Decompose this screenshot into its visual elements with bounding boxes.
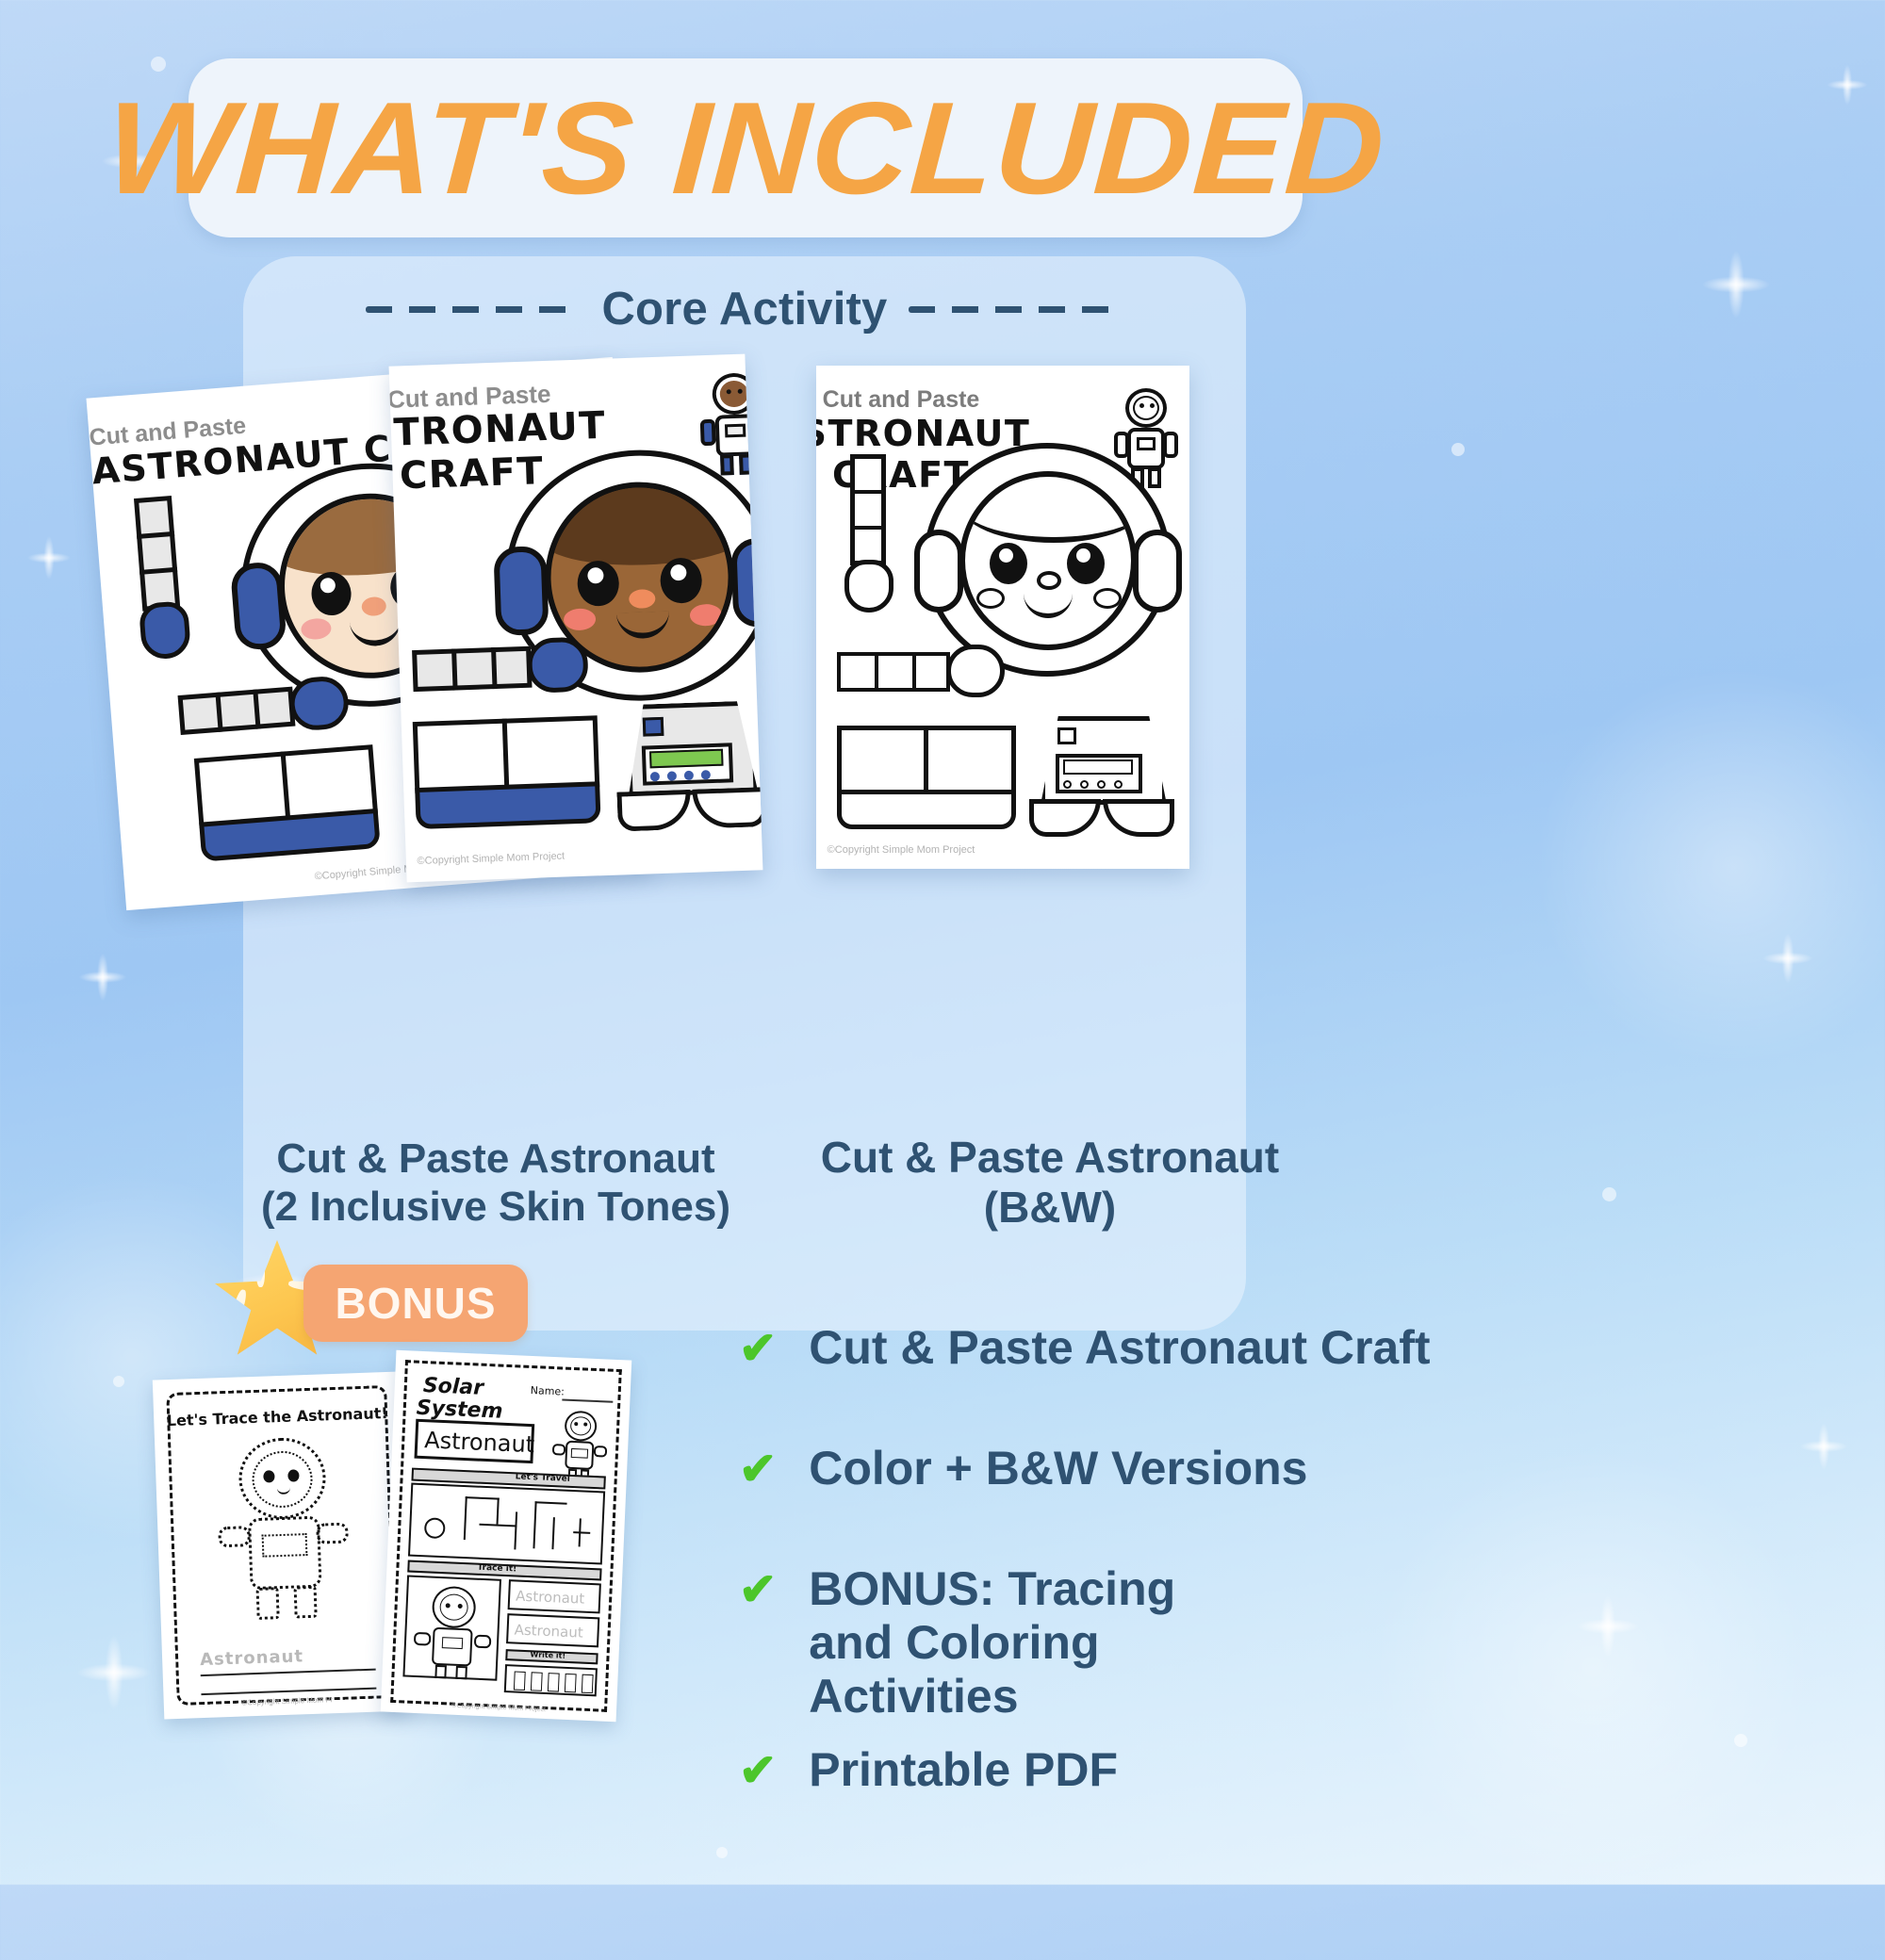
word-box-text: Astronaut <box>424 1427 535 1458</box>
craft-torso-piece <box>837 726 1016 833</box>
caption-line-2: (2 Inclusive Skin Tones) <box>251 1183 741 1231</box>
bonus-pill: BONUS <box>303 1265 528 1342</box>
mini-astronaut-icon <box>549 1410 611 1484</box>
checklist-item[interactable]: ✔ Cut & Paste Astronaut Craft <box>739 1321 1431 1375</box>
worksheet-copyright: ©Copyright Simple Mom Project <box>389 846 689 872</box>
craft-arm-piece-2 <box>837 648 1016 703</box>
traced-astronaut-figure <box>213 1436 352 1629</box>
sparkle-icon <box>1819 57 1876 113</box>
maze-area <box>408 1483 605 1565</box>
section-write-label: Write it! <box>530 1650 565 1660</box>
trace-word-box-1: Astronaut <box>508 1579 601 1613</box>
check-icon: ✔ <box>739 1749 777 1794</box>
craft-arm-piece-2 <box>177 678 360 746</box>
header-banner: WHAT'S INCLUDED <box>188 58 1303 237</box>
name-field-label: Name: <box>530 1384 565 1398</box>
bonus-thumb-solar-system[interactable]: Solar System Name: Astronaut Let's Trave… <box>381 1350 632 1723</box>
dashed-rule-right <box>909 306 1123 313</box>
checklist-item[interactable]: ✔ Printable PDF <box>739 1743 1118 1797</box>
caption-bw-worksheet: Cut & Paste Astronaut (B&W) <box>763 1133 1336 1233</box>
craft-arm-piece <box>846 454 903 624</box>
sparkle-icon <box>1753 923 1823 993</box>
core-activity-header: Core Activity <box>243 271 1246 347</box>
sparkle-icon <box>1689 237 1783 332</box>
trace-word-1: Astronaut <box>516 1588 585 1608</box>
worksheet-copyright: ©Copyright Simple Mom Project <box>816 844 1071 856</box>
dashed-rule-left <box>366 306 581 313</box>
sparkle-icon <box>19 528 79 588</box>
page-title: WHAT'S INCLUDED <box>103 83 1388 214</box>
worksheet-subtitle: Cut and Paste <box>816 386 1071 414</box>
trace-word-box-2: Astronaut <box>506 1613 599 1647</box>
bonus-badge: BONUS <box>215 1240 526 1363</box>
core-activity-label: Core Activity <box>601 283 887 335</box>
checklist-label: Color + B&W Versions <box>809 1442 1307 1495</box>
sparkle-icon <box>62 1621 166 1724</box>
checklist-label-bonus: BONUS: Tracing and Coloring Activities <box>809 1562 1267 1723</box>
craft-legs-piece <box>1027 716 1184 842</box>
craft-torso-piece <box>194 744 381 864</box>
bonus-thumb-tracing[interactable]: Let's Trace the Astronaut! Astronaut ©Co… <box>153 1372 411 1720</box>
caption-line-1: Cut & Paste Astronaut <box>763 1133 1336 1183</box>
craft-legs-piece <box>610 700 762 838</box>
caption-color-worksheets: Cut & Paste Astronaut (2 Inclusive Skin … <box>251 1135 741 1231</box>
craft-arm-piece <box>134 496 186 678</box>
bonus-label: BONUS <box>335 1278 496 1329</box>
checklist-item[interactable]: ✔ BONUS: Tracing and Coloring Activities <box>739 1562 1267 1723</box>
check-icon: ✔ <box>739 1327 777 1372</box>
worksheet-color-dark[interactable]: Cut and Paste ASTRONAUT CRAFT <box>389 354 763 883</box>
checklist-label: Cut & Paste Astronaut Craft <box>809 1321 1430 1375</box>
caption-line-1: Cut & Paste Astronaut <box>251 1135 741 1183</box>
craft-torso-piece <box>413 715 601 831</box>
check-icon: ✔ <box>739 1447 777 1493</box>
sparkle-icon <box>1791 1413 1857 1479</box>
checklist-item[interactable]: ✔ Color + B&W Versions <box>739 1442 1308 1495</box>
craft-arm-piece <box>412 638 602 701</box>
caption-line-2: (B&W) <box>763 1183 1336 1233</box>
coloring-box <box>402 1575 501 1680</box>
check-icon: ✔ <box>739 1568 777 1613</box>
worksheet-bw[interactable]: Cut and Paste ASTRONAUT CRAFT <box>816 366 1189 869</box>
sparkle-icon <box>70 944 136 1010</box>
section-trace-label: Trace it! <box>477 1563 516 1575</box>
checklist-label: Printable PDF <box>809 1743 1118 1797</box>
trace-word-2: Astronaut <box>514 1621 583 1641</box>
features-checklist: ✔ Cut & Paste Astronaut Craft ✔ Color + … <box>739 1321 1587 1849</box>
write-area <box>504 1664 598 1696</box>
checklist-emphasis: BONUS: <box>809 1562 994 1615</box>
